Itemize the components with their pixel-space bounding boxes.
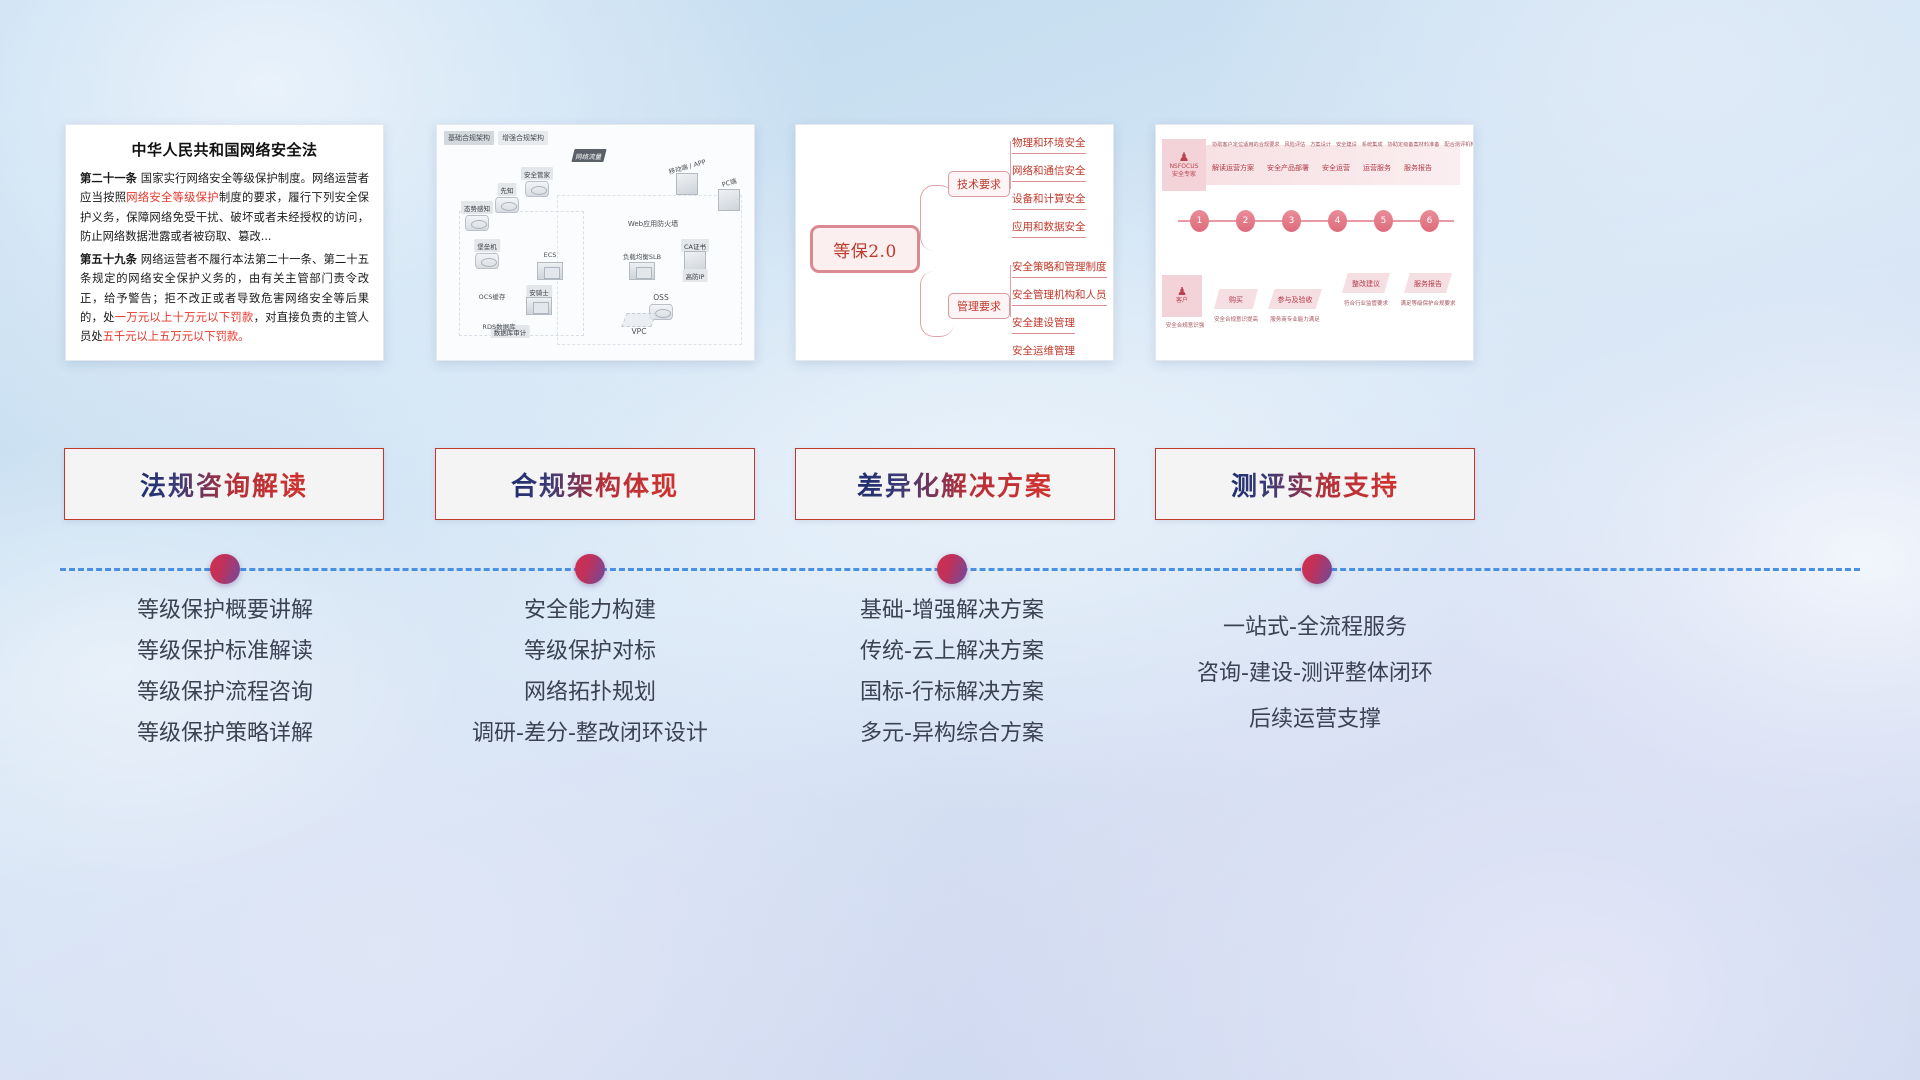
nsfocus-step-3: 3 xyxy=(1282,210,1301,232)
mindmap-leaf-tech-3: 应用和数据安全 xyxy=(1012,219,1086,238)
list-item: 传统-云上解决方案 xyxy=(762,641,1142,663)
architecture-tab-basic[interactable]: 基础合规架构 xyxy=(444,131,494,145)
nsfocus-step-6: 6 xyxy=(1420,210,1439,232)
nsfocus-step-1: 1 xyxy=(1190,210,1209,232)
mindmap-leaf-tech-0: 物理和环境安全 xyxy=(1012,135,1086,154)
list-item: 等级保护标准解读 xyxy=(35,641,415,663)
nsfocus-brand: NSFOCUS xyxy=(1170,163,1199,171)
architecture-tab-enhanced[interactable]: 增强合规架构 xyxy=(498,131,548,145)
architecture-diagram: 基础合规架构 增强合规架构 网络流量 安全管家 先知 态势感知 堡垒机 xyxy=(437,125,754,360)
columns-lists: 等级保护概要讲解 等级保护标准解读 等级保护流程咨询 等级保护策略详解 安全能力… xyxy=(0,600,1920,830)
timeline-dot-2[interactable] xyxy=(575,554,605,584)
nsfocus-top-5: 协助定级备案材料准备 xyxy=(1388,141,1440,148)
list-item: 咨询-建设-测评整体闭环 xyxy=(1125,663,1505,685)
mindmap-leaf-mgmt-1: 安全管理机构和人员 xyxy=(1012,287,1107,306)
nsfocus-top-6: 配合测评机构完成全流程测评 xyxy=(1444,141,1474,148)
list-column-1: 等级保护概要讲解 等级保护标准解读 等级保护流程咨询 等级保护策略详解 xyxy=(35,600,415,764)
nsfocus-foot-sub-1: 服务商专业能力满足 xyxy=(1264,315,1326,323)
timeline xyxy=(0,540,1920,600)
heading-box-3[interactable]: 差异化解决方案 xyxy=(795,448,1115,520)
mindmap-leaf-mgmt-3: 安全运维管理 xyxy=(1012,343,1075,361)
nsfocus-top-2: 方案设计 xyxy=(1310,141,1331,148)
list-item: 网络拓扑规划 xyxy=(400,682,780,704)
nsfocus-foot-sub-3: 满足等级保护合规要求 xyxy=(1398,299,1458,307)
mindmap-leaf-mgmt-0: 安全策略和管理制度 xyxy=(1012,259,1107,278)
nsfocus-customer: 客户 xyxy=(1176,297,1188,305)
law-article-59: 第五十九条 网络运营者不履行本法第二十一条、第二十五条规定的网络安全保护义务的，… xyxy=(80,250,369,347)
nsfocus-top-0: 协助客户定位适用的合规要求 xyxy=(1212,141,1279,148)
list-item: 一站式-全流程服务 xyxy=(1125,617,1505,639)
customer-icon: ♟ xyxy=(1177,286,1187,297)
nsfocus-foot-3: 服务报告 xyxy=(1404,279,1452,289)
nsfocus-step-2: 2 xyxy=(1236,210,1255,232)
law-article-21-highlight: 网络安全等级保护 xyxy=(126,191,219,204)
mindmap-leaf-mgmt-2: 安全建设管理 xyxy=(1012,315,1075,334)
nsfocus-foot-2: 整改建议 xyxy=(1342,279,1390,289)
heading-box-2[interactable]: 合规架构体现 xyxy=(435,448,755,520)
law-article-59-highlight-1: 一万元以上十万元以下罚款 xyxy=(115,311,254,324)
nsfocus-diagram: ♟ NSFOCUS 安全专家 协助客户定位适用的合规要求 风险评估 方案设计 安… xyxy=(1156,125,1473,360)
reference-cards-row: 中华人民共和国网络安全法 第二十一条 国家实行网络安全等级保护制度。网络运营者应… xyxy=(0,124,1920,364)
list-item: 等级保护对标 xyxy=(400,641,780,663)
mindmap-root: 等保2.0 xyxy=(810,225,920,273)
law-article-59-highlight-2: 五千元以上五万元以下罚款。 xyxy=(103,330,250,343)
law-article-59-label: 第五十九条 xyxy=(80,253,137,266)
headings-row: 法规咨询解读 合规架构体现 差异化解决方案 测评实施支持 xyxy=(0,448,1920,520)
list-column-3: 基础-增强解决方案 传统-云上解决方案 国标-行标解决方案 多元-异构综合方案 xyxy=(762,600,1142,764)
nsfocus-brand-sub: 安全专家 xyxy=(1172,171,1196,179)
list-item: 等级保护流程咨询 xyxy=(35,682,415,704)
mindmap-branch-technical: 技术要求 xyxy=(948,171,1010,197)
mindmap-spine-management xyxy=(1010,265,1011,317)
heading-label-3: 差异化解决方案 xyxy=(857,466,1053,503)
nsfocus-top-1: 风险评估 xyxy=(1284,141,1305,148)
nsfocus-step-4: 4 xyxy=(1328,210,1347,232)
nsfocus-foot-0: 购买 xyxy=(1214,295,1258,305)
list-item: 安全能力构建 xyxy=(400,600,780,622)
nsfocus-foot-sub-0: 安全合规意识提高 xyxy=(1210,315,1262,323)
nsfocus-mid-3: 运营服务 xyxy=(1363,163,1391,173)
timeline-dot-1[interactable] xyxy=(210,554,240,584)
person-icon: ♟ xyxy=(1179,151,1190,163)
list-item: 后续运营支撑 xyxy=(1125,709,1505,731)
heading-box-1[interactable]: 法规咨询解读 xyxy=(64,448,384,520)
nsfocus-mid-0: 解读运营方案 xyxy=(1212,163,1254,173)
heading-label-4: 测评实施支持 xyxy=(1231,466,1399,503)
nsfocus-step-5: 5 xyxy=(1374,210,1393,232)
nsfocus-axis xyxy=(1178,220,1454,222)
list-column-2: 安全能力构建 等级保护对标 网络拓扑规划 调研-差分-整改闭环设计 xyxy=(400,600,780,764)
mindmap: 等保2.0 技术要求 管理要求 物理和环境安全 网络和通信安全 设备和计算安全 … xyxy=(796,125,1113,360)
list-item: 基础-增强解决方案 xyxy=(762,600,1142,622)
nsfocus-mid-2: 安全运营 xyxy=(1322,163,1350,173)
nsfocus-customer-sub: 安全合规意识强 xyxy=(1164,321,1206,329)
card-nsfocus-service-flow: ♟ NSFOCUS 安全专家 协助客户定位适用的合规要求 风险评估 方案设计 安… xyxy=(1155,124,1474,361)
list-column-4: 一站式-全流程服务 咨询-建设-测评整体闭环 后续运营支撑 xyxy=(1125,600,1505,755)
timeline-dot-3[interactable] xyxy=(937,554,967,584)
nsfocus-foot-sub-2: 符合行业监管要求 xyxy=(1336,299,1396,307)
law-article-21: 第二十一条 国家实行网络安全等级保护制度。网络运营者应当按照网络安全等级保护制度… xyxy=(80,169,369,247)
law-article-21-label: 第二十一条 xyxy=(80,172,137,185)
list-item: 等级保护概要讲解 xyxy=(35,600,415,622)
architecture-tabs: 基础合规架构 增强合规架构 xyxy=(444,131,548,145)
heading-box-4[interactable]: 测评实施支持 xyxy=(1155,448,1475,520)
card-compliance-architecture: 基础合规架构 增强合规架构 网络流量 安全管家 先知 态势感知 堡垒机 xyxy=(436,124,755,361)
list-item: 多元-异构综合方案 xyxy=(762,723,1142,745)
mindmap-branch-management: 管理要求 xyxy=(948,293,1010,319)
nsfocus-customer-tag: ♟ 客户 xyxy=(1162,275,1202,317)
law-body: 中华人民共和国网络安全法 第二十一条 国家实行网络安全等级保护制度。网络运营者应… xyxy=(66,125,383,358)
nsfocus-brand-tag: ♟ NSFOCUS 安全专家 xyxy=(1162,139,1206,191)
list-item: 国标-行标解决方案 xyxy=(762,682,1142,704)
nsfocus-mid-1: 安全产品部署 xyxy=(1267,163,1309,173)
card-mindmap-dengbao: 等保2.0 技术要求 管理要求 物理和环境安全 网络和通信安全 设备和计算安全 … xyxy=(795,124,1114,361)
heading-label-2: 合规架构体现 xyxy=(511,466,679,503)
card-cybersecurity-law: 中华人民共和国网络安全法 第二十一条 国家实行网络安全等级保护制度。网络运营者应… xyxy=(65,124,384,361)
timeline-dot-4[interactable] xyxy=(1302,554,1332,584)
nsfocus-mid-4: 服务报告 xyxy=(1404,163,1432,173)
mindmap-leaf-tech-2: 设备和计算安全 xyxy=(1012,191,1086,210)
nsfocus-top-4: 系统集成 xyxy=(1362,141,1383,148)
list-item: 调研-差分-整改闭环设计 xyxy=(400,723,780,745)
law-title: 中华人民共和国网络安全法 xyxy=(80,139,369,160)
heading-label-1: 法规咨询解读 xyxy=(140,466,308,503)
nsfocus-band-top-labels: 协助客户定位适用的合规要求 风险评估 方案设计 安全建设 系统集成 协助定级备案… xyxy=(1212,141,1474,148)
nsfocus-band-mid-labels: 解读运营方案 安全产品部署 安全运营 运营服务 服务报告 xyxy=(1212,163,1432,173)
nsfocus-foot-1: 参与及验收 xyxy=(1268,295,1322,305)
mindmap-spine-technical xyxy=(1010,141,1011,189)
mindmap-leaf-tech-1: 网络和通信安全 xyxy=(1012,163,1086,182)
nsfocus-top-3: 安全建设 xyxy=(1336,141,1357,148)
list-item: 等级保护策略详解 xyxy=(35,723,415,745)
